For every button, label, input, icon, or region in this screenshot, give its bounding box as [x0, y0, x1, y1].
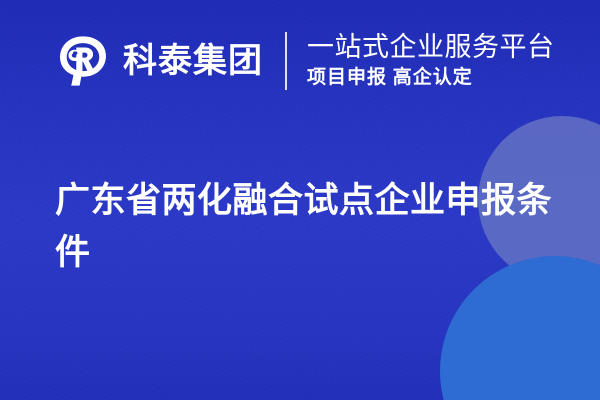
- brand-header: 科泰集团 一站式企业服务平台 项目申报 高企认定: [55, 24, 555, 98]
- header-divider: [285, 32, 287, 90]
- article-cover-banner: 科泰集团 一站式企业服务平台 项目申报 高企认定 广东省两化融合试点企业申报条件: [0, 0, 600, 400]
- tagline-secondary: 项目申报 高企认定: [307, 66, 555, 91]
- ketai-group-logo-icon: [55, 33, 111, 89]
- tagline-primary: 一站式企业服务平台: [307, 32, 555, 64]
- tagline-block: 一站式企业服务平台 项目申报 高企认定: [307, 32, 555, 91]
- brand-name: 科泰集团: [123, 44, 263, 78]
- page-title: 广东省两化融合试点企业申报条件: [55, 175, 555, 279]
